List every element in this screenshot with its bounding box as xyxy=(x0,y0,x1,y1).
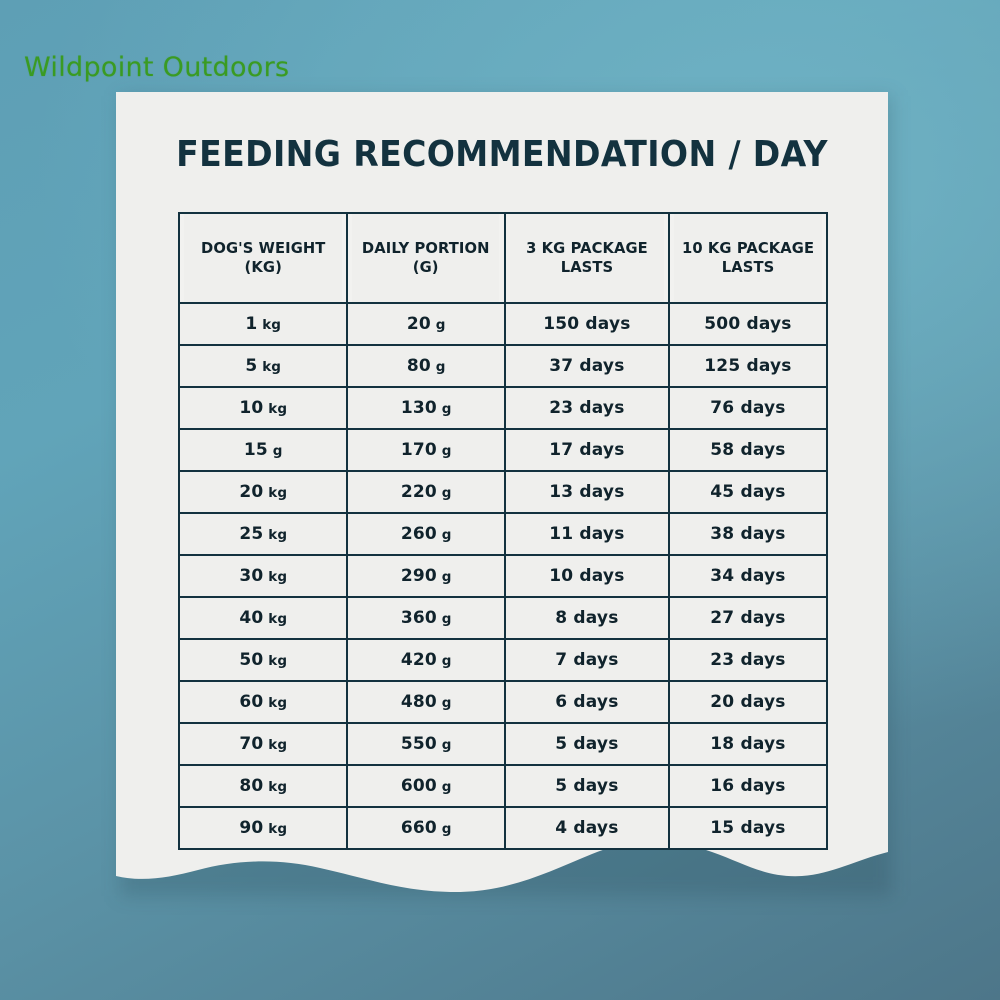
watermark-label: Wildpoint Outdoors xyxy=(24,52,289,83)
cell-value: 30 xyxy=(239,566,263,586)
table-row: 70 kg550 g5 days18 days xyxy=(179,723,827,765)
column-header-line1: 3 KG PACKAGE xyxy=(526,239,648,257)
cell-unit: kg xyxy=(263,695,287,711)
cell-value: 1 xyxy=(245,314,257,334)
cell-daily-portion: 130 g xyxy=(347,387,504,429)
cell-10kg-package-lasts: 15 days xyxy=(669,807,827,849)
cell-3kg-package-lasts: 37 days xyxy=(505,345,669,387)
cell-value: 290 xyxy=(401,566,437,586)
cell-dogs-weight: 10 kg xyxy=(179,387,347,429)
cell-dogs-weight: 70 kg xyxy=(179,723,347,765)
table-header-row: DOG'S WEIGHT (KG) DAILY PORTION (G) 3 KG… xyxy=(179,213,827,303)
cell-unit: g xyxy=(437,485,452,501)
cell-3kg-package-lasts: 17 days xyxy=(505,429,669,471)
feeding-chart-card: FEEDING RECOMMENDATION / DAY DOG'S WEIGH… xyxy=(116,92,888,904)
cell-dogs-weight: 25 kg xyxy=(179,513,347,555)
cell-dogs-weight: 1 kg xyxy=(179,303,347,345)
column-header-line2: LASTS xyxy=(722,258,775,276)
column-header-daily-portion: DAILY PORTION (G) xyxy=(351,213,501,303)
cell-unit: g xyxy=(268,443,283,459)
cell-dogs-weight: 80 kg xyxy=(179,765,347,807)
table-row: 30 kg290 g10 days34 days xyxy=(179,555,827,597)
cell-dogs-weight: 50 kg xyxy=(179,639,347,681)
cell-daily-portion: 550 g xyxy=(347,723,504,765)
cell-daily-portion: 420 g xyxy=(347,639,504,681)
cell-unit: kg xyxy=(257,359,281,375)
cell-value: 90 xyxy=(239,818,263,838)
cell-3kg-package-lasts: 7 days xyxy=(505,639,669,681)
table-row: 50 kg420 g7 days23 days xyxy=(179,639,827,681)
cell-value: 480 xyxy=(401,692,437,712)
column-header-dogs-weight: DOG'S WEIGHT (KG) xyxy=(183,213,343,303)
column-header-line1: DAILY PORTION xyxy=(362,239,490,257)
cell-value: 50 xyxy=(239,650,263,670)
cell-unit: g xyxy=(437,611,452,627)
cell-3kg-package-lasts: 11 days xyxy=(505,513,669,555)
cell-unit: kg xyxy=(263,527,287,543)
cell-daily-portion: 20 g xyxy=(347,303,504,345)
cell-value: 80 xyxy=(407,356,431,376)
cell-unit: kg xyxy=(263,653,287,669)
cell-daily-portion: 660 g xyxy=(347,807,504,849)
table-row: 25 kg260 g11 days38 days xyxy=(179,513,827,555)
cell-daily-portion: 170 g xyxy=(347,429,504,471)
cell-3kg-package-lasts: 8 days xyxy=(505,597,669,639)
page-background: Wildpoint Outdoors FEEDING RECOMMENDATIO… xyxy=(0,0,1000,1000)
table-row: 80 kg600 g5 days16 days xyxy=(179,765,827,807)
table-row: 5 kg80 g37 days125 days xyxy=(179,345,827,387)
cell-value: 660 xyxy=(401,818,437,838)
cell-unit: g xyxy=(437,737,452,753)
cell-unit: g xyxy=(437,569,452,585)
table-row: 20 kg220 g13 days45 days xyxy=(179,471,827,513)
cell-3kg-package-lasts: 6 days xyxy=(505,681,669,723)
table-row: 90 kg660 g4 days15 days xyxy=(179,807,827,849)
cell-value: 80 xyxy=(239,776,263,796)
cell-3kg-package-lasts: 150 days xyxy=(505,303,669,345)
cell-value: 170 xyxy=(401,440,437,460)
cell-unit: kg xyxy=(263,611,287,627)
cell-3kg-package-lasts: 5 days xyxy=(505,723,669,765)
cell-10kg-package-lasts: 58 days xyxy=(669,429,827,471)
column-header-line1: DOG'S WEIGHT xyxy=(201,239,325,257)
cell-10kg-package-lasts: 38 days xyxy=(669,513,827,555)
table-row: 40 kg360 g8 days27 days xyxy=(179,597,827,639)
cell-daily-portion: 290 g xyxy=(347,555,504,597)
cell-unit: kg xyxy=(263,821,287,837)
cell-10kg-package-lasts: 23 days xyxy=(669,639,827,681)
cell-value: 220 xyxy=(401,482,437,502)
feeding-table: DOG'S WEIGHT (KG) DAILY PORTION (G) 3 KG… xyxy=(178,212,828,850)
cell-unit: g xyxy=(437,821,452,837)
table-row: 15 g170 g17 days58 days xyxy=(179,429,827,471)
cell-unit: kg xyxy=(263,401,287,417)
column-header-line2: LASTS xyxy=(561,258,614,276)
cell-value: 360 xyxy=(401,608,437,628)
cell-daily-portion: 360 g xyxy=(347,597,504,639)
cell-dogs-weight: 60 kg xyxy=(179,681,347,723)
cell-dogs-weight: 40 kg xyxy=(179,597,347,639)
cell-unit: g xyxy=(437,401,452,417)
cell-3kg-package-lasts: 4 days xyxy=(505,807,669,849)
cell-daily-portion: 600 g xyxy=(347,765,504,807)
cell-value: 5 xyxy=(245,356,257,376)
table-body: 1 kg20 g150 days500 days5 kg80 g37 days1… xyxy=(179,303,827,849)
cell-10kg-package-lasts: 27 days xyxy=(669,597,827,639)
cell-value: 420 xyxy=(401,650,437,670)
cell-value: 10 xyxy=(239,398,263,418)
cell-3kg-package-lasts: 5 days xyxy=(505,765,669,807)
cell-daily-portion: 220 g xyxy=(347,471,504,513)
column-header-line2: (G) xyxy=(413,258,439,276)
cell-unit: kg xyxy=(263,779,287,795)
cell-value: 600 xyxy=(401,776,437,796)
cell-10kg-package-lasts: 16 days xyxy=(669,765,827,807)
cell-value: 20 xyxy=(407,314,431,334)
cell-3kg-package-lasts: 10 days xyxy=(505,555,669,597)
column-header-line1: 10 KG PACKAGE xyxy=(682,239,814,257)
cell-value: 130 xyxy=(401,398,437,418)
cell-10kg-package-lasts: 34 days xyxy=(669,555,827,597)
cell-value: 70 xyxy=(239,734,263,754)
cell-value: 20 xyxy=(239,482,263,502)
cell-unit: g xyxy=(431,359,446,375)
cell-10kg-package-lasts: 76 days xyxy=(669,387,827,429)
cell-unit: kg xyxy=(263,569,287,585)
cell-10kg-package-lasts: 18 days xyxy=(669,723,827,765)
cell-value: 40 xyxy=(239,608,263,628)
cell-10kg-package-lasts: 20 days xyxy=(669,681,827,723)
cell-3kg-package-lasts: 13 days xyxy=(505,471,669,513)
cell-value: 60 xyxy=(239,692,263,712)
table-header: DOG'S WEIGHT (KG) DAILY PORTION (G) 3 KG… xyxy=(179,213,827,303)
cell-value: 550 xyxy=(401,734,437,754)
cell-dogs-weight: 90 kg xyxy=(179,807,347,849)
cell-10kg-package-lasts: 45 days xyxy=(669,471,827,513)
cell-dogs-weight: 5 kg xyxy=(179,345,347,387)
cell-unit: kg xyxy=(257,317,281,333)
cell-unit: g xyxy=(437,653,452,669)
column-header-line2: (KG) xyxy=(245,258,282,276)
cell-10kg-package-lasts: 125 days xyxy=(669,345,827,387)
cell-unit: kg xyxy=(263,485,287,501)
cell-dogs-weight: 20 kg xyxy=(179,471,347,513)
column-header-10kg-package-lasts: 10 KG PACKAGE LASTS xyxy=(673,213,823,303)
cell-unit: g xyxy=(437,695,452,711)
cell-value: 260 xyxy=(401,524,437,544)
cell-dogs-weight: 15 g xyxy=(179,429,347,471)
cell-daily-portion: 260 g xyxy=(347,513,504,555)
table-row: 10 kg130 g23 days76 days xyxy=(179,387,827,429)
cell-value: 25 xyxy=(239,524,263,544)
column-header-3kg-package-lasts: 3 KG PACKAGE LASTS xyxy=(509,213,665,303)
cell-unit: kg xyxy=(263,737,287,753)
cell-unit: g xyxy=(437,779,452,795)
cell-daily-portion: 80 g xyxy=(347,345,504,387)
cell-3kg-package-lasts: 23 days xyxy=(505,387,669,429)
cell-unit: g xyxy=(437,443,452,459)
page-title: FEEDING RECOMMENDATION / DAY xyxy=(147,134,857,175)
cell-dogs-weight: 30 kg xyxy=(179,555,347,597)
cell-daily-portion: 480 g xyxy=(347,681,504,723)
cell-value: 15 xyxy=(244,440,268,460)
feeding-table-container: DOG'S WEIGHT (KG) DAILY PORTION (G) 3 KG… xyxy=(178,212,828,850)
table-row: 60 kg480 g6 days20 days xyxy=(179,681,827,723)
cell-10kg-package-lasts: 500 days xyxy=(669,303,827,345)
table-row: 1 kg20 g150 days500 days xyxy=(179,303,827,345)
cell-unit: g xyxy=(431,317,446,333)
cell-unit: g xyxy=(437,527,452,543)
